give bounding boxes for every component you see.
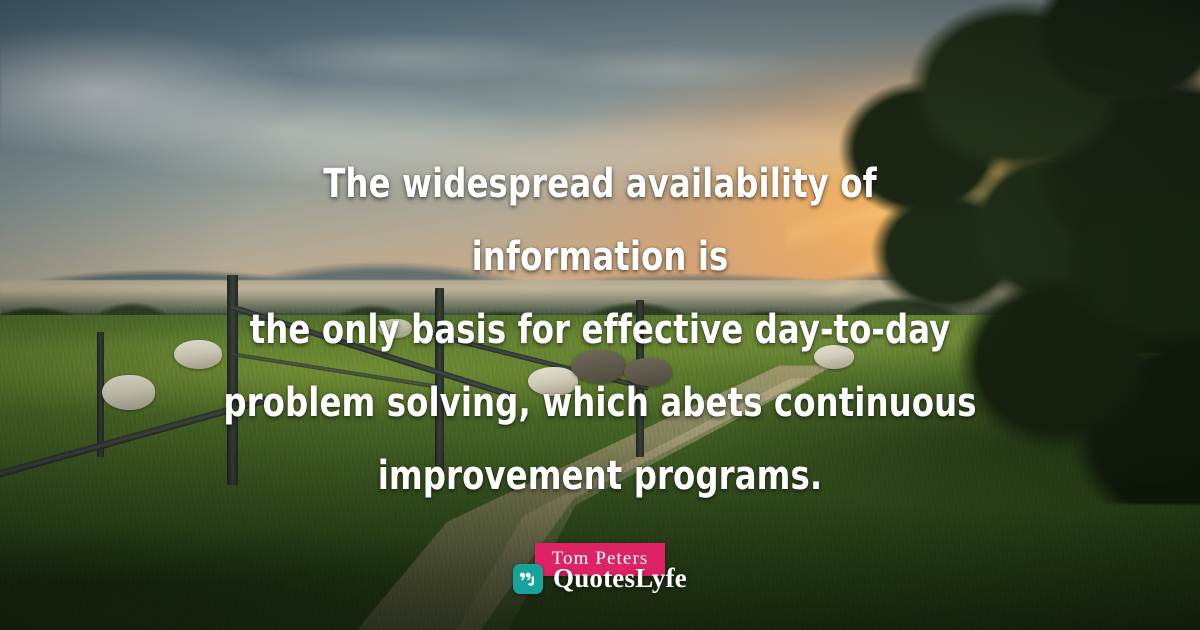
quote-line: problem solving, which abets continuous bbox=[213, 367, 987, 440]
quote-line: improvement programs. bbox=[213, 440, 987, 513]
quote-card: The widespread availability of informati… bbox=[0, 0, 1200, 630]
quote-text: The widespread availability of informati… bbox=[213, 148, 987, 513]
quote-line: The widespread availability of informati… bbox=[213, 148, 987, 294]
brand-name: QuotesLyfe bbox=[553, 563, 687, 594]
brand-logo[interactable]: QuotesLyfe bbox=[513, 563, 687, 594]
quote-line: the only basis for effective day-to-day bbox=[213, 294, 987, 367]
card-content: The widespread availability of informati… bbox=[0, 0, 1200, 630]
quote-marks-icon bbox=[513, 564, 543, 594]
